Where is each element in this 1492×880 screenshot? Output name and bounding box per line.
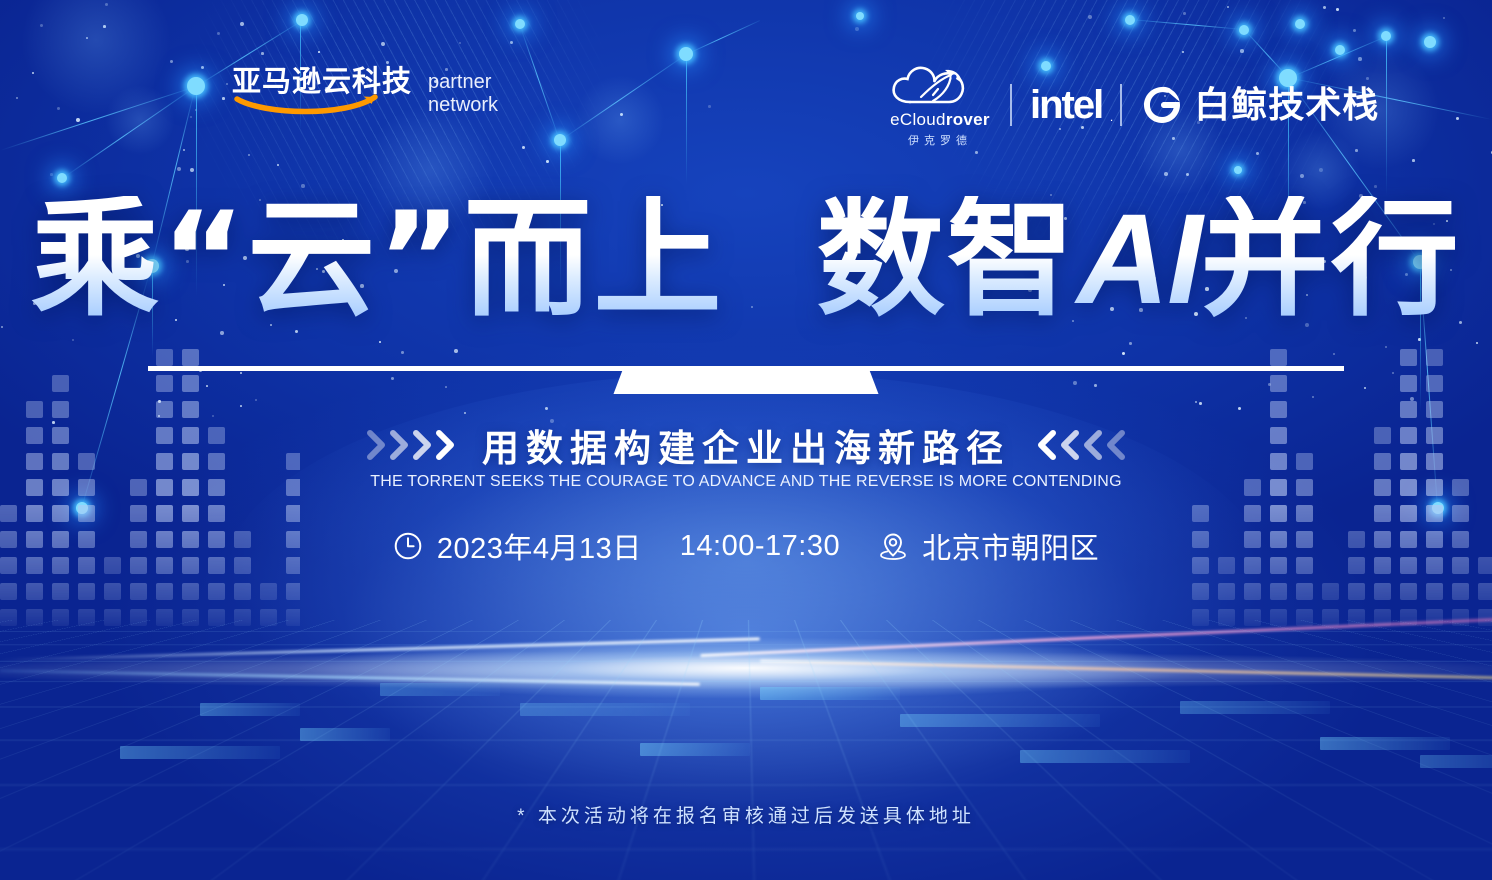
subtitle-row: 用数据构建企业出海新路径 (0, 418, 1492, 472)
logo-divider-1 (1010, 84, 1012, 126)
cloud-rocket-icon (888, 62, 992, 108)
aws-name-cn: 亚马逊云科技 (232, 68, 412, 113)
headline-part-3: 并行 (1201, 185, 1461, 334)
page-title: 乘“云”而上 数智AI并行 (0, 196, 1492, 324)
clock-icon (393, 531, 423, 561)
aws-partner-network-label: partner network (428, 68, 498, 117)
event-date: 2023年4月13日 (437, 525, 642, 567)
ecloudrover-name-cn: 伊克罗德 (908, 132, 972, 148)
ecloudrover-logo: eCloudrover 伊克罗德 (888, 62, 992, 148)
event-banner: 亚马逊云科技 partner network eCloudrover 伊克罗德 (0, 0, 1492, 880)
intel-logo: intel. (1030, 85, 1102, 125)
event-time: 14:00-17:30 (680, 530, 840, 563)
english-tagline: THE TORRENT SEEKS THE COURAGE TO ADVANCE… (0, 473, 1492, 491)
headline-part-2: 数智 (817, 185, 1077, 334)
event-location: 北京市朝阳区 (922, 525, 1099, 567)
event-meta-row: 2023年4月13日 14:00-17:30 北京市朝阳区 (0, 525, 1492, 567)
perspective-floor-grid (0, 620, 1492, 880)
map-pin-icon (878, 531, 908, 561)
footnote-text: * 本次活动将在报名审核通过后发送具体地址 (0, 801, 1492, 828)
headline-part-1: 乘“云”而上 (31, 185, 723, 334)
sponsor-logos: eCloudrover 伊克罗德 intel. 白鲸技术栈 (888, 62, 1379, 148)
amazon-smile-icon (234, 93, 382, 115)
subtitle-text: 用数据构建企业出海新路径 (482, 418, 1010, 472)
logo-divider-2 (1120, 84, 1122, 126)
aws-partner-logo: 亚马逊云科技 partner network (232, 68, 498, 117)
g-circle-icon (1140, 83, 1184, 127)
headline-ai: AI (1077, 188, 1201, 331)
ecloudrover-name: eCloudrover (890, 110, 990, 130)
baijing-logo: 白鲸技术栈 (1140, 83, 1379, 127)
intel-trademark: . (1110, 111, 1111, 123)
baijing-name-cn: 白鲸技术栈 (1194, 87, 1379, 123)
chevrons-left-icon (1036, 430, 1125, 460)
horizon-glow (0, 608, 1492, 728)
intel-wordmark: intel (1030, 83, 1102, 127)
headline-divider-tab (614, 366, 879, 394)
chevrons-right-icon (367, 430, 456, 460)
